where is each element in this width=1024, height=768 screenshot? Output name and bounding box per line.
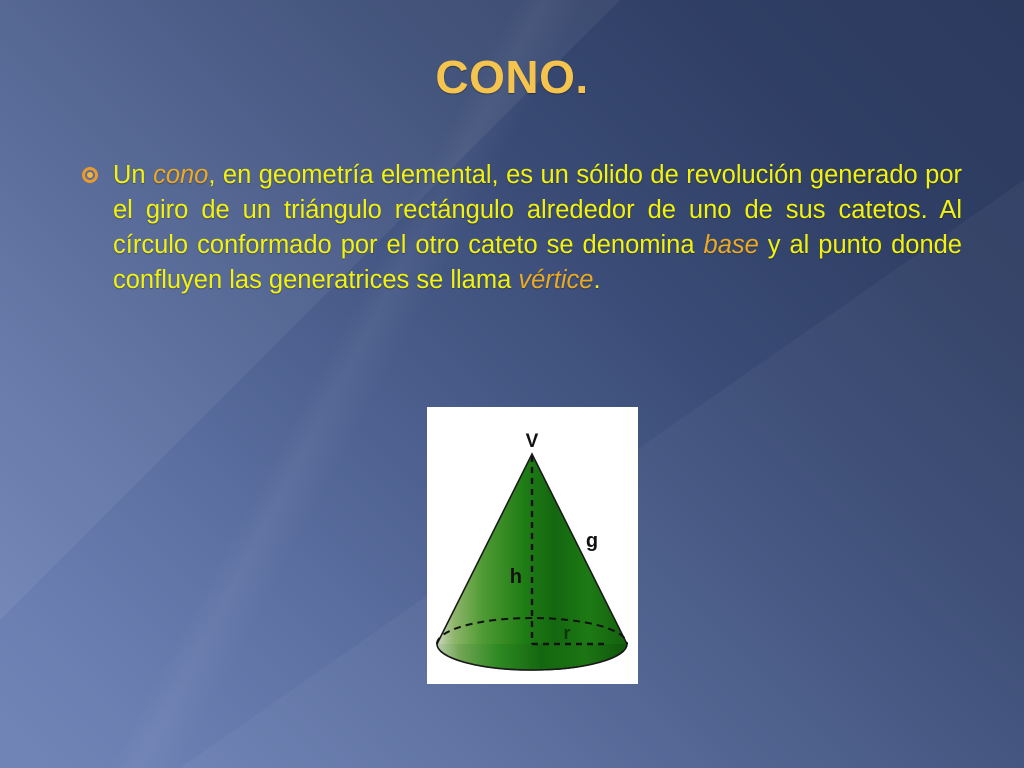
paragraph-segment-4: . bbox=[593, 266, 600, 294]
label-height: h bbox=[510, 566, 522, 588]
bullet-paragraph: Un cono, en geometría elemental, es un s… bbox=[113, 158, 962, 298]
bullseye-bullet-icon bbox=[78, 162, 113, 192]
paragraph-segment-1: Un bbox=[113, 161, 153, 189]
cone-diagram-image: V g h r bbox=[427, 407, 638, 684]
label-radius: r bbox=[563, 623, 570, 643]
cone-svg: V g h r bbox=[427, 407, 638, 684]
emphasis-base: base bbox=[704, 231, 759, 259]
label-vertex: V bbox=[526, 431, 539, 452]
slide-canvas: CONO. Un cono, en geometría elemental, e… bbox=[0, 0, 1024, 768]
bullet-dot bbox=[87, 172, 93, 178]
emphasis-vertice: vértice bbox=[518, 266, 593, 294]
emphasis-cono: cono bbox=[153, 161, 208, 189]
bullet-list-item: Un cono, en geometría elemental, es un s… bbox=[78, 158, 962, 298]
body-content: Un cono, en geometría elemental, es un s… bbox=[78, 158, 962, 298]
label-generatrix: g bbox=[586, 530, 598, 552]
slide-title: CONO. bbox=[0, 50, 1024, 104]
